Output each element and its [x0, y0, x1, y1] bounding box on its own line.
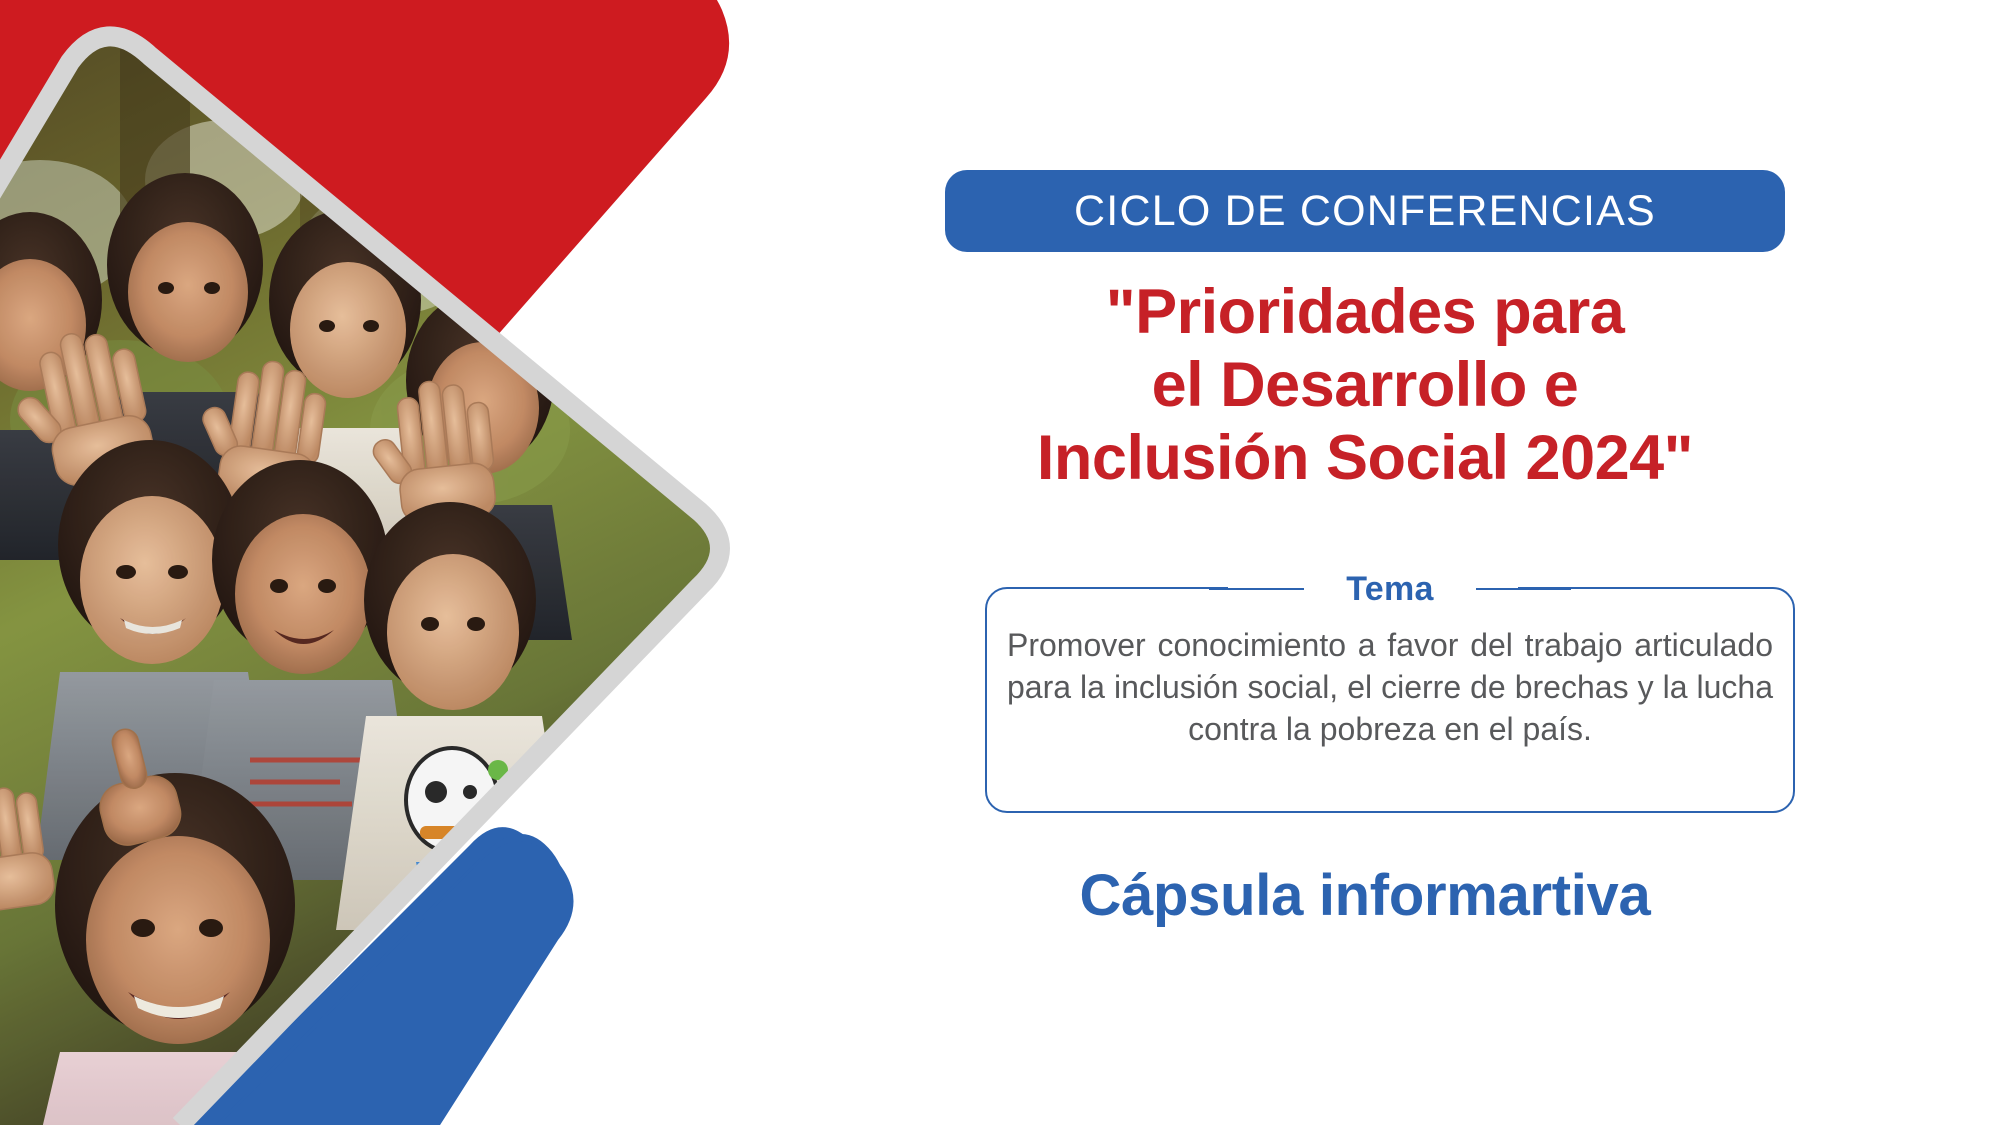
- content-column: CICLO DE CONFERENCIAS "Prioridades para …: [940, 0, 1840, 1125]
- tema-rule-left: [1209, 588, 1304, 590]
- page-title-line-2: el Desarrollo e: [940, 349, 1790, 422]
- page-title-line-3: Inclusión Social 2024": [940, 422, 1790, 495]
- tema-section: Tema Promover conocimiento a favor del t…: [985, 568, 1795, 813]
- page-title: "Prioridades para el Desarrollo e Inclus…: [940, 276, 1790, 495]
- tema-label: Tema: [1346, 570, 1434, 609]
- tema-rule-right: [1476, 588, 1571, 590]
- poster-canvas: CICLO DE CONFERENCIAS "Prioridades para …: [0, 0, 2000, 1125]
- tema-header: Tema: [985, 568, 1795, 610]
- page-title-line-1: "Prioridades para: [940, 276, 1790, 349]
- left-graphic-panel: [0, 0, 760, 1125]
- capsule-label: Cápsula informartiva: [940, 862, 1790, 929]
- tema-body-text: Promover conocimiento a favor del trabaj…: [1007, 624, 1773, 751]
- conference-series-label: CICLO DE CONFERENCIAS: [1074, 187, 1656, 236]
- conference-series-badge: CICLO DE CONFERENCIAS: [945, 170, 1785, 252]
- left-graphic-svg: [0, 0, 760, 1125]
